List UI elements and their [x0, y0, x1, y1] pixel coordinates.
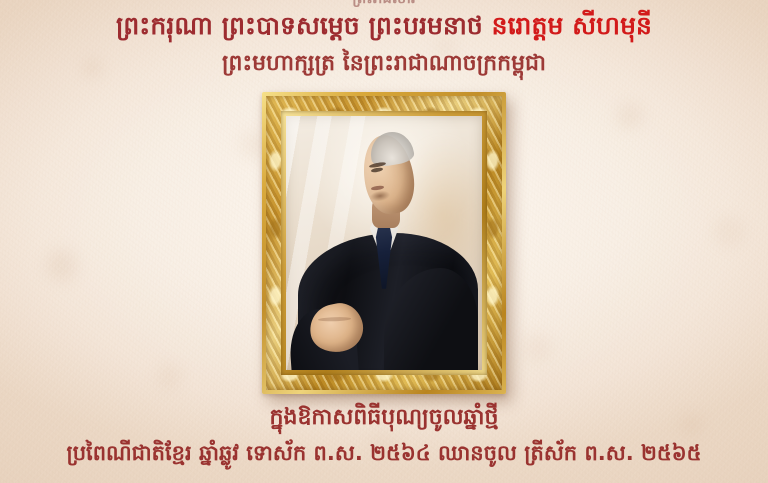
royal-portrait [262, 92, 506, 394]
royal-title-line-1: ព្រះករុណា ព្រះបាទសម្ដេច ព្រះបរមនាថ នរោត្… [0, 10, 768, 41]
royal-title-line-2: ព្រះមហាក្សត្រ នៃព្រះរាជាណាចក្រកម្ពុជា [0, 50, 768, 78]
royal-title-block: ព្រះករុណា ព្រះបាទសម្ដេច ព្រះបរមនាថ នរោត្… [0, 10, 768, 78]
royal-name: នរោត្តម សីហមុនី [492, 11, 652, 40]
portrait-photo [286, 116, 482, 370]
new-year-greeting-block: ក្នុងឱកាសពិធីបុណ្យចូលឆ្នាំថ្មី ប្រពៃណីជា… [0, 404, 768, 466]
clipped-header-text: ព្រះរាជសារ [0, 0, 768, 8]
portrait-figure [286, 116, 482, 370]
greeting-line-1: ក្នុងឱកាសពិធីបុណ្យចូលឆ្នាំថ្មី [0, 404, 768, 432]
greeting-card: ព្រះរាជសារ ព្រះករុណា ព្រះបាទសម្ដេច ព្រះប… [0, 0, 768, 483]
royal-title-prefix: ព្រះករុណា ព្រះបាទសម្ដេច ព្រះបរមនាថ [116, 11, 492, 40]
greeting-line-2: ប្រពៃណីជាតិខ្មែរ ឆ្នាំឆ្លូវ ទោស័ក ព.ស. ២… [0, 440, 768, 466]
